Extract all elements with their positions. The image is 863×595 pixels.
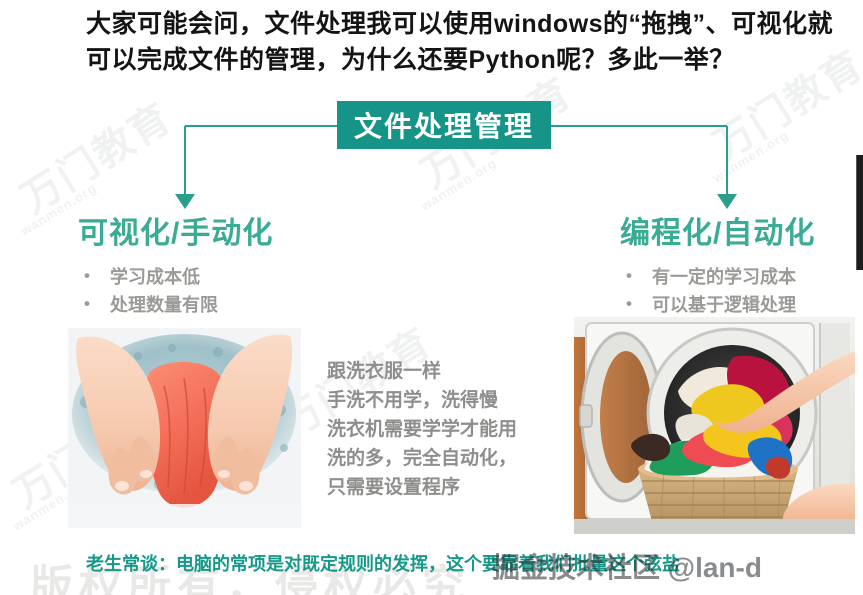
washing-machine-laundry-basket-photo <box>574 317 855 534</box>
diagram-title-chip: 文件处理管理 <box>337 101 551 149</box>
caption-line: 跟洗衣服一样 <box>327 357 557 386</box>
arrowhead-right-icon <box>717 194 737 209</box>
list-item: 处理数量有限 <box>78 291 408 319</box>
caption-line: 洗衣机需要学学才能用 <box>327 415 557 444</box>
branch-manual-heading: 可视化/手动化 <box>78 215 408 253</box>
comparison-caption: 跟洗衣服一样 手洗不用学，洗得慢 洗衣机需要学学才能用 洗的多，完全自动化， 只… <box>327 357 557 502</box>
branch-automated-heading: 编程化/自动化 <box>620 215 863 253</box>
capture-edge-artifact <box>856 155 863 270</box>
caption-line: 只需要设置程序 <box>327 473 557 502</box>
list-item: 可以基于逻辑处理 <box>620 291 863 319</box>
caption-line: 手洗不用学，洗得慢 <box>327 386 557 415</box>
branch-manual-bullets: 学习成本低 处理数量有限 <box>78 263 408 319</box>
branch-manual: 可视化/手动化 学习成本低 处理数量有限 <box>78 215 408 319</box>
footer-note: 老生常谈：电脑的常项是对既定规则的发挥，这个要靠着我们批量这个弦盐 <box>86 551 861 577</box>
list-item: 有一定的学习成本 <box>620 263 863 291</box>
slide-canvas: 万门教育 wanmen.org 万门教育 wanmen.org 万门教育 wan… <box>0 0 863 595</box>
caption-line: 洗的多，完全自动化， <box>327 444 557 473</box>
hands-washing-clothes-photo <box>68 328 301 528</box>
diagram-title-label: 文件处理管理 <box>354 105 534 145</box>
arrowhead-left-icon <box>175 194 195 209</box>
list-item: 学习成本低 <box>78 263 408 291</box>
branch-automated-bullets: 有一定的学习成本 可以基于逻辑处理 <box>620 263 863 319</box>
branch-automated: 编程化/自动化 有一定的学习成本 可以基于逻辑处理 <box>620 215 863 319</box>
